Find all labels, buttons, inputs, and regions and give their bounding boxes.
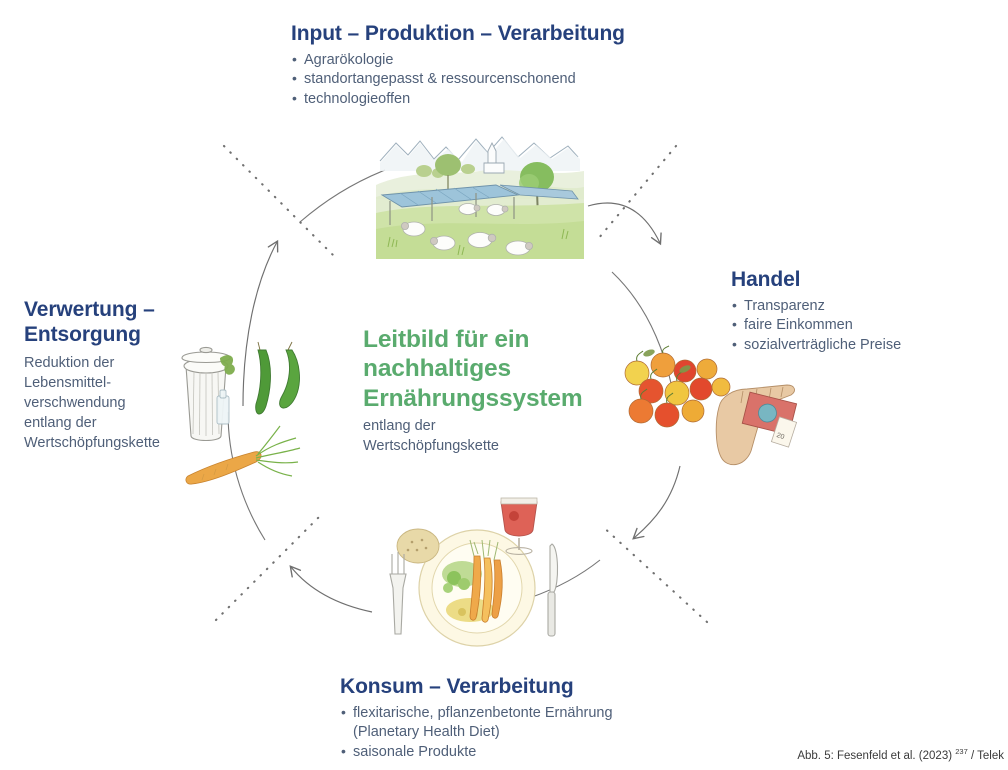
node-input-bullets: Agrarökologie standortangepasst & ressou… xyxy=(291,51,691,110)
title-line: Leitbild für ein xyxy=(363,326,529,353)
list-item: Transparenz xyxy=(731,297,996,317)
title-line: Entsorgung xyxy=(24,323,141,346)
sub-line: Reduktion der xyxy=(24,355,114,371)
caption-prefix: Abb. 5: Fesenfeld et al. (2023) xyxy=(797,750,955,762)
node-handel-bullets: Transparenz faire Einkommen sozialverträ… xyxy=(731,297,996,356)
sub-line: Wertschöpfungskette xyxy=(24,435,160,451)
sub-line: entlang der xyxy=(363,418,436,434)
diagram-canvas: 20 20 xyxy=(0,0,1008,770)
sub-line: Lebensmittel- xyxy=(24,375,111,391)
list-item: faire Einkommen xyxy=(731,316,996,336)
node-handel-block: Handel Transparenz faire Einkommen sozia… xyxy=(731,268,996,356)
list-item: flexitarische, pflanzenbetonte Ernährung xyxy=(340,704,680,724)
node-input-title: Input – Produktion – Verarbeitung xyxy=(291,22,691,47)
arrow-handel-to-konsum xyxy=(634,466,680,538)
dotted-top-left xyxy=(224,146,333,255)
dotted-bottom-left xyxy=(216,516,320,620)
sub-line: Wertschöpfungskette xyxy=(363,438,499,454)
plated-meal-illustration xyxy=(370,488,585,650)
caption-suffix: / Telek xyxy=(968,750,1004,762)
dotted-top-right xyxy=(598,146,676,239)
node-konsum-block: Konsum – Verarbeitung flexitarische, pfl… xyxy=(340,675,680,763)
node-verwertung-subtitle: Reduktion der Lebensmittel- verschwendun… xyxy=(24,353,209,453)
arrow-konsum-to-verwertung xyxy=(291,567,372,612)
list-item: standortangepasst & ressourcenschonend xyxy=(291,70,691,90)
node-verwertung-block: Verwertung – Entsorgung Reduktion der Le… xyxy=(24,298,209,453)
list-item-continuation: (Planetary Health Diet) xyxy=(340,723,680,743)
node-konsum-bullets: flexitarische, pflanzenbetonte Ernährung… xyxy=(340,704,680,763)
title-line: Verwertung – xyxy=(24,298,155,321)
list-item: sozialverträgliche Preise xyxy=(731,336,996,356)
list-item: Agrarökologie xyxy=(291,51,691,71)
sub-line: verschwendung xyxy=(24,395,126,411)
center-vision-block: Leitbild für ein nachhaltiges Ernährungs… xyxy=(363,325,618,457)
node-konsum-title: Konsum – Verarbeitung xyxy=(340,675,680,700)
center-subtitle: entlang der Wertschöpfungskette xyxy=(363,417,618,456)
sub-line: entlang der xyxy=(24,415,97,431)
caption-superscript: 237 xyxy=(955,747,968,756)
title-line: nachhaltiges xyxy=(363,355,511,382)
figure-caption: Abb. 5: Fesenfeld et al. (2023) 237 / Te… xyxy=(797,747,1004,762)
list-item: saisonale Produkte xyxy=(340,743,680,763)
apples-hand-money-illustration: 20 20 xyxy=(615,345,800,470)
dotted-bottom-right xyxy=(601,525,707,622)
node-verwertung-title: Verwertung – Entsorgung xyxy=(24,298,209,348)
center-title: Leitbild für ein nachhaltiges Ernährungs… xyxy=(363,325,618,413)
farm-solar-sheep-illustration xyxy=(372,113,587,263)
node-handel-title: Handel xyxy=(731,268,996,293)
node-input-block: Input – Produktion – Verarbeitung Agrarö… xyxy=(291,22,691,110)
list-item: technologieoffen xyxy=(291,90,691,110)
title-line: Ernährungssystem xyxy=(363,385,583,412)
